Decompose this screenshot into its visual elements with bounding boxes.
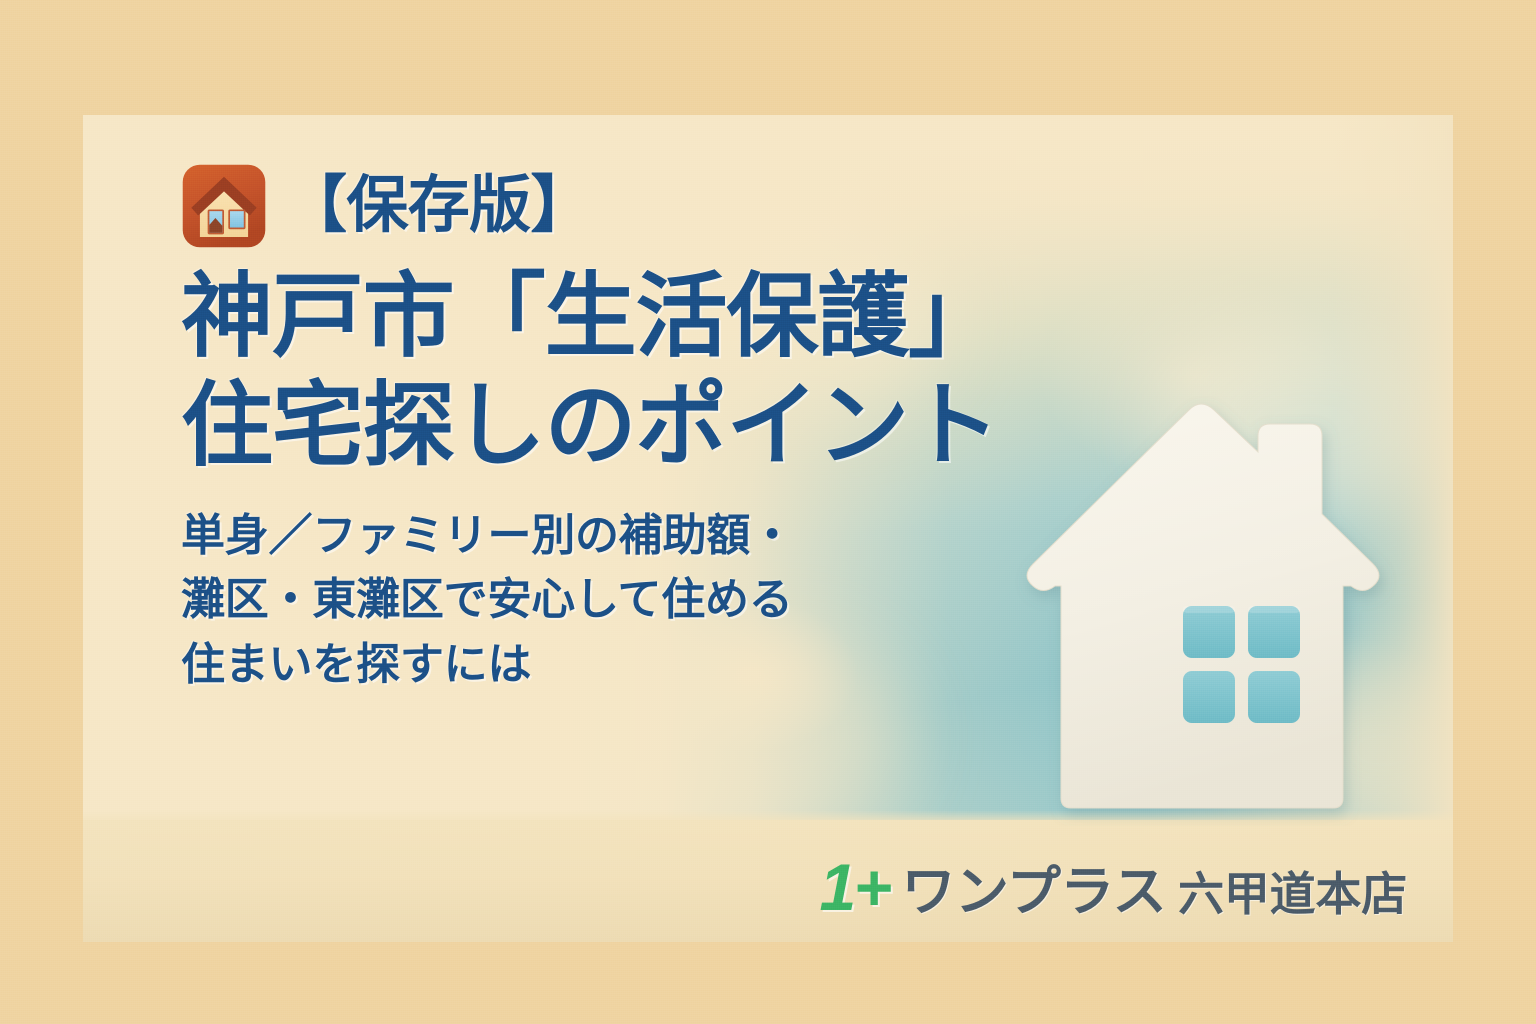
house-emoji-icon xyxy=(181,163,267,249)
white-house-figurine xyxy=(1003,396,1403,826)
badge-row: 【保存版】 xyxy=(181,163,971,249)
logo-mark: 1+ xyxy=(820,854,890,920)
logo-name: ワンプラス xyxy=(902,865,1167,919)
subtitle-line-3: 住まいを探すには xyxy=(181,633,971,697)
badge-label: 【保存版】 xyxy=(285,175,592,237)
page-subtitle: 単身／ファミリー別の補助額・ 灘区・東灘区で安心して住める 住まいを探すには xyxy=(181,504,971,697)
subtitle-line-1: 単身／ファミリー別の補助額・ xyxy=(181,504,971,568)
title-line-1: 神戸市「生活保護」 xyxy=(181,263,971,372)
text-content: 【保存版】 神戸市「生活保護」 住宅探しのポイント 単身／ファミリー別の補助額・… xyxy=(181,163,971,697)
subtitle-line-2: 灘区・東灘区で安心して住める xyxy=(181,568,971,632)
page-title: 神戸市「生活保護」 住宅探しのポイント xyxy=(181,263,971,480)
logo-branch: 六甲道本店 xyxy=(1178,871,1407,917)
poster-card: 【保存版】 神戸市「生活保護」 住宅探しのポイント 単身／ファミリー別の補助額・… xyxy=(83,115,1453,942)
brand-logo: 1+ ワンプラス 六甲道本店 xyxy=(820,854,1407,920)
title-line-2: 住宅探しのポイント xyxy=(181,372,971,481)
poster-canvas: 【保存版】 神戸市「生活保護」 住宅探しのポイント 単身／ファミリー別の補助額・… xyxy=(0,0,1536,1024)
